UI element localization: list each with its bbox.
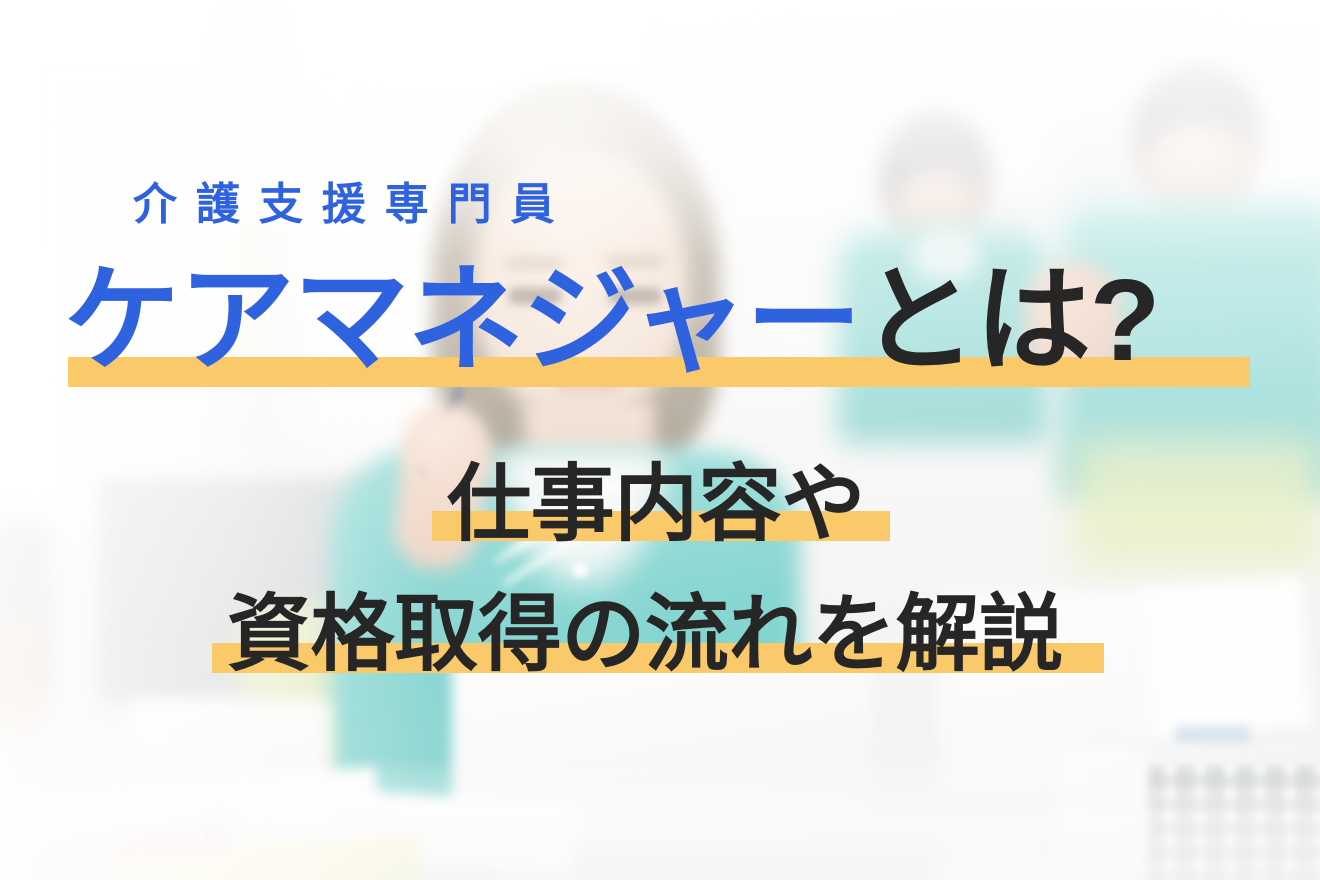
page-title: ケアマネジャーとは? (64, 262, 1159, 378)
page-title-keyword: ケアマネジャー (64, 255, 860, 385)
eyebrow-label: 介護支援専門員 (133, 183, 573, 227)
subtitle-line-1: 仕事内容や (447, 462, 865, 546)
page-title-suffix: とは? (860, 255, 1159, 385)
headline-text-layer: 介護支援専門員 ケアマネジャーとは? 仕事内容や 資格取得の流れを解説 (0, 0, 1320, 880)
article-hero-banner: 介護支援専門員 ケアマネジャーとは? 仕事内容や 資格取得の流れを解説 (0, 0, 1320, 880)
subtitle-line-2: 資格取得の流れを解説 (227, 592, 1063, 676)
